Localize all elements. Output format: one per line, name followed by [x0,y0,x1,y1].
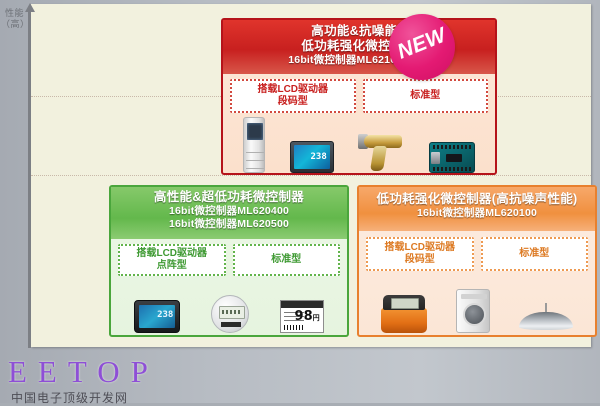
box-orange-header: 低功耗强化微控制器(高抗噪声性能) 16bit微控制器ML620100 [359,187,595,231]
box-green-tag1-line1: 搭载LCD驱动器 [136,248,207,259]
dark-thermostat-icon [134,300,180,333]
washing-machine-icon [456,289,490,333]
y-axis-line [28,10,31,348]
box-orange-tag-row: 搭载LCD驱动器 段码型 标准型 [359,237,595,271]
box-red-tag1-line2: 段码型 [278,96,308,107]
rice-cooker-icon [381,295,427,333]
box-orange-tag1-line1: 搭载LCD驱动器 [384,242,455,253]
product-box-ml621000[interactable]: 高功能&抗噪能& 低功耗强化微控制器 16bit微控制器ML621000系列 搭… [221,18,497,175]
box-green-subtitle-line1: 16bit微控制器ML620400 [111,205,347,218]
box-green-tag-lcd-dotmatrix[interactable]: 搭载LCD驱动器 点阵型 [118,244,226,276]
box-orange-tag2-line1: 标准型 [519,248,549,260]
y-axis-label-line2: （高） [1,19,28,30]
pendant-lamp-icon [519,303,573,333]
price-tag-unit: 円 [313,314,320,322]
box-green-tag2-line1: 标准型 [271,254,301,266]
box-red-tag-standard[interactable]: 标准型 [363,79,489,113]
box-orange-product-images [359,273,595,333]
box-green-tag-standard[interactable]: 标准型 [233,244,341,276]
box-green-title: 高性能&超低功耗微控制器 [111,190,347,205]
box-orange-tag1-line2: 段码型 [405,254,435,265]
watermark-tagline: 中国电子顶级开发网 [11,389,128,406]
box-red-product-images [223,115,495,173]
box-orange-tag-lcd-segment[interactable]: 搭载LCD驱动器 段码型 [366,237,474,271]
box-red-tag2-line1: 标准型 [410,90,440,102]
box-red-tag1-line1: 搭载LCD驱动器 [257,84,328,95]
box-green-subtitle-line2: 16bit微控制器ML620500 [111,218,347,231]
box-orange-title: 低功耗强化微控制器(高抗噪声性能) [359,192,595,207]
gridline-lower [31,175,591,176]
product-box-ml620100[interactable]: 低功耗强化微控制器(高抗噪声性能) 16bit微控制器ML620100 搭载LC… [357,185,597,337]
watermark-brand: EETOP [8,354,159,390]
box-orange-tag-standard[interactable]: 标准型 [481,237,589,271]
slide-page: 高功能&抗噪能& 低功耗强化微控制器 16bit微控制器ML621000系列 搭… [0,0,600,403]
box-green-product-images: 98円 [111,277,347,333]
box-red-tag-row: 搭载LCD驱动器 段码型 标准型 [223,79,495,113]
positioning-chart: 高功能&抗噪能& 低功耗强化微控制器 16bit微控制器ML621000系列 搭… [31,4,591,347]
box-green-header: 高性能&超低功耗微控制器 16bit微控制器ML620400 16bit微控制器… [111,187,347,239]
y-axis-label-line1: 性能 [1,8,28,19]
box-green-tag1-line2: 点阵型 [157,260,187,271]
epaper-price-tag-icon: 98円 [280,300,324,333]
product-box-ml620400-500[interactable]: 高性能&超低功耗微控制器 16bit微控制器ML620400 16bit微控制器… [109,185,349,337]
power-drill-icon [358,131,404,173]
box-green-tag-row: 搭载LCD驱动器 点阵型 标准型 [111,244,347,276]
box-orange-subtitle: 16bit微控制器ML620100 [359,207,595,220]
gas-meter-icon [211,295,249,333]
y-axis-label: 性能 （高） [1,8,28,30]
blue-thermostat-icon [290,141,334,173]
new-badge: NEW [389,14,455,80]
box-red-tag-lcd-segment[interactable]: 搭载LCD驱动器 段码型 [230,79,356,113]
watermark-footer: EETOP 中国电子顶级开发网 [0,347,600,403]
arduino-pcb-icon [429,142,475,173]
box-red-subtitle: 16bit微控制器ML621000系列 [223,54,495,67]
new-badge-label: NEW [387,21,457,68]
intercom-panel-icon [243,117,265,173]
price-tag-value: 98 [295,309,313,324]
